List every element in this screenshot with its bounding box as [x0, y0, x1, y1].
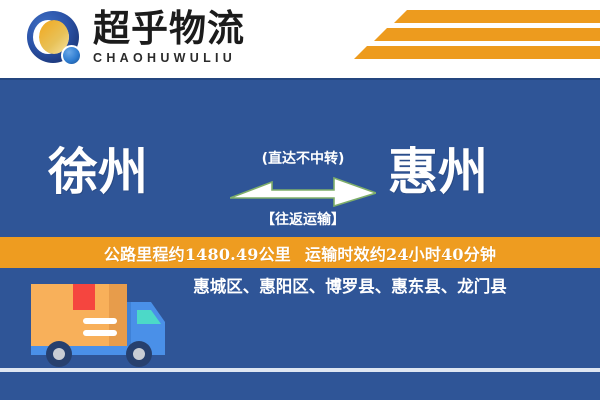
brand-name-cn: 超乎物流 [93, 6, 293, 50]
circle-crescent-logo-icon [27, 11, 85, 69]
route-note-top: (直达不中转) [228, 150, 378, 168]
distance-text: 公路里程约1480.49公里 [104, 245, 291, 264]
route-note-bottom: 【往返运输】 [228, 211, 378, 229]
route-arrow-block: (直达不中转) 【往返运输】 [228, 116, 378, 238]
header: 超乎物流 CHAOHUWULIU [0, 0, 600, 78]
delivery-truck-icon [25, 274, 177, 370]
brand-name-en: CHAOHUWULIU [93, 51, 293, 66]
stripe-2 [374, 28, 600, 41]
route-row: 徐州 (直达不中转) 【往返运输】 惠州 [0, 116, 600, 238]
brand-text: 超乎物流 CHAOHUWULIU [93, 6, 293, 72]
header-divider [0, 78, 600, 80]
logistics-route-poster: 超乎物流 CHAOHUWULIU 徐州 (直达不中转) 【往返运输】 惠州 [0, 0, 600, 400]
destination-city: 惠州 [388, 142, 488, 202]
stripe-3 [354, 46, 600, 59]
orange-stripes-icon [340, 8, 600, 70]
logo-dot-icon [61, 45, 82, 66]
info-band-content: 公路里程约1480.49公里运输时效约24小时40分钟 [104, 241, 496, 265]
bidirectional-arrow-icon [230, 176, 376, 208]
info-band: 公路里程约1480.49公里运输时效约24小时40分钟 [0, 237, 600, 268]
stripe-1 [394, 10, 600, 23]
duration-text: 运输时效约24小时40分钟 [305, 245, 496, 264]
coverage-areas: 惠城区、惠阳区、博罗县、惠东县、龙门县 [150, 276, 550, 298]
poster-body: 徐州 (直达不中转) 【往返运输】 惠州 公路里程约1480.49公里运输时效约… [0, 78, 600, 400]
origin-city: 徐州 [48, 142, 148, 202]
